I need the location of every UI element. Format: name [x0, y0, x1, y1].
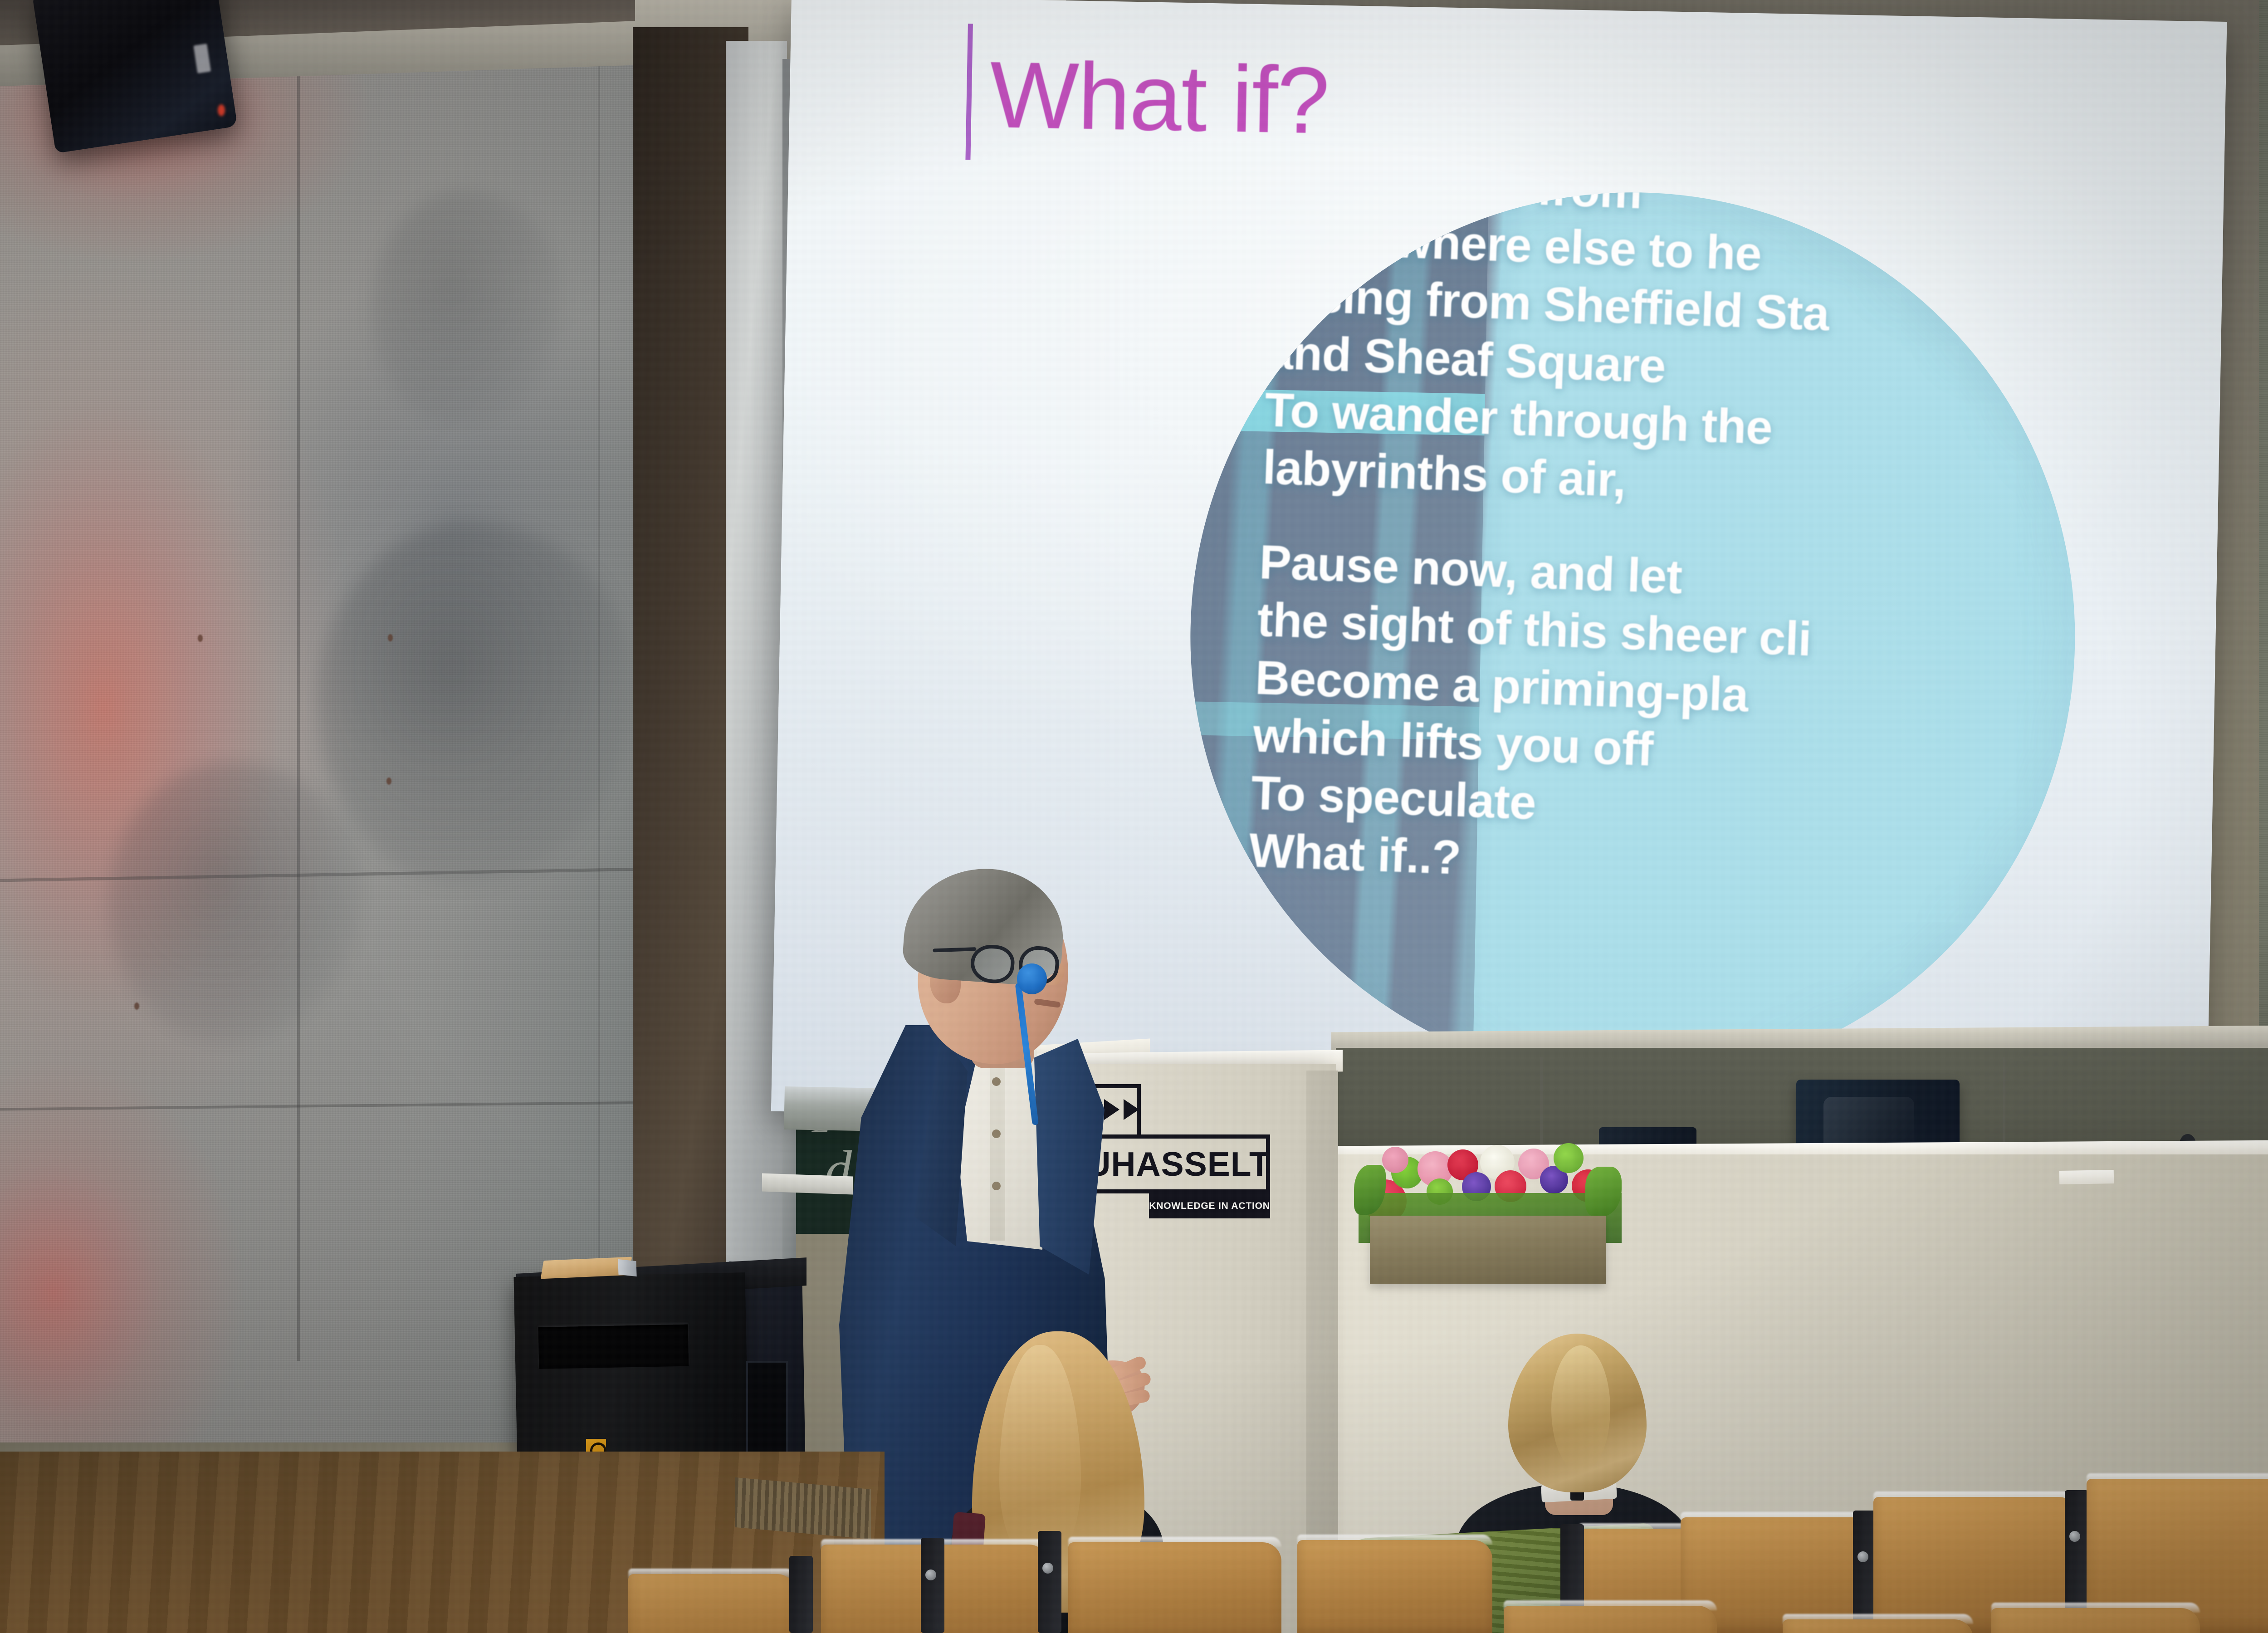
- shirt-button: [992, 1129, 1001, 1138]
- wall-blemish: [198, 635, 203, 642]
- chair-row-back-1[interactable]: [1991, 1608, 2200, 1633]
- chair-backrest: [1068, 1542, 1281, 1633]
- subwoofer-handle[interactable]: [746, 1361, 788, 1461]
- desk-paper[interactable]: [2059, 1170, 2114, 1184]
- attendee-hair-highlight: [1551, 1345, 1610, 1472]
- wall-joint-vertical: [297, 45, 300, 1361]
- chair-frame-post: [921, 1538, 944, 1633]
- chair-pivot-rivet: [1857, 1551, 1868, 1562]
- flower-bloom: [1382, 1147, 1408, 1173]
- wall-blemish-4: [134, 1002, 139, 1010]
- chair-row-front-1[interactable]: [628, 1574, 796, 1633]
- chair-backrest: [1297, 1540, 1492, 1633]
- shirt-button: [992, 1182, 1001, 1190]
- wall-blemish-3: [386, 777, 391, 785]
- wall-blemish-2: [388, 634, 393, 641]
- poem-overlay-text: o travellers from somewhere else to he R…: [1246, 185, 2083, 951]
- flower-planter-box: [1370, 1216, 1606, 1284]
- shirt-button: [992, 1077, 1001, 1086]
- chair-backrest: [1991, 1608, 2200, 1633]
- chair-backrest: [1783, 1619, 1973, 1633]
- flower-bloom: [1554, 1143, 1584, 1173]
- logo-tagline: KNOWLEDGE IN ACTION: [1149, 1201, 1270, 1212]
- poem-stanza: Pause now, and let the sight of this she…: [1248, 533, 2083, 914]
- lecture-hall-photo: L d What if? o travellers from somewhere…: [0, 0, 2268, 1633]
- chair-row-back-2[interactable]: [1783, 1619, 1973, 1633]
- presenter-shirt-placket: [990, 1046, 1005, 1241]
- slide-title: What if?: [989, 48, 1330, 148]
- chair-pivot-rivet: [1042, 1563, 1053, 1574]
- subwoofer-port-top: [538, 1325, 689, 1369]
- chair-backrest: [628, 1574, 796, 1633]
- chair-row-front-4[interactable]: [1297, 1540, 1492, 1633]
- speaker-status-led: [218, 104, 225, 116]
- chair-frame-post: [789, 1556, 813, 1633]
- chair-backrest: [1504, 1606, 1717, 1633]
- logo-tagline-bar: KNOWLEDGE IN ACTION: [1149, 1193, 1270, 1218]
- chair-row-front-3[interactable]: [1068, 1542, 1281, 1633]
- speaker-brand-badge: [193, 44, 211, 73]
- flower-arrangement: [1359, 1125, 1622, 1229]
- chair-row-back-3[interactable]: [1504, 1606, 1717, 1633]
- ceiling-speaker: [32, 0, 237, 153]
- slide-title-group: What if?: [965, 24, 1330, 166]
- book-page-edge: [618, 1259, 636, 1276]
- chair-frame-post: [1038, 1531, 1061, 1633]
- chair-pivot-rivet: [925, 1569, 936, 1580]
- gooseneck-microphone[interactable]: [1017, 963, 1047, 994]
- poem-stanza: o travellers from somewhere else to he R…: [1262, 185, 2083, 531]
- chair-pivot-rivet: [2069, 1531, 2080, 1542]
